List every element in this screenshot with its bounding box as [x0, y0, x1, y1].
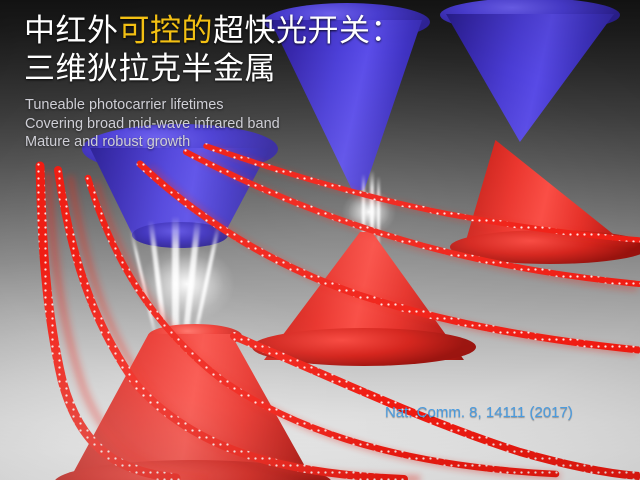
title-line-1-highlight: 可控的: [119, 13, 214, 48]
glow-strand: [377, 176, 380, 250]
title-line-2: 三维狄拉克半金属: [24, 50, 624, 88]
bullet-item: Mature and robust growth: [25, 133, 625, 152]
bullet-list: Tuneable photocarrier lifetimes Covering…: [25, 96, 625, 152]
citation-reference: Nat. Comm. 8, 14111 (2017): [385, 404, 573, 421]
title-line-1: 中红外可控的超快光开关：: [24, 12, 624, 50]
bullet-item: Tuneable photocarrier lifetimes: [25, 96, 625, 115]
title-line-1-pre: 中红外: [24, 13, 119, 48]
title-line-1-post: 超快光开关：: [213, 13, 402, 48]
red-cone-left: [66, 334, 316, 480]
bullet-item: Covering broad mid-wave infrared band: [25, 115, 625, 134]
slide-title: 中红外可控的超快光开关： 三维狄拉克半金属: [24, 12, 624, 88]
red-cone-base-cap-right: [450, 230, 640, 264]
slide-canvas: 中红外可控的超快光开关： 三维狄拉克半金属 Tuneable photocarr…: [0, 0, 640, 480]
dirac-cone-pair-left: [70, 148, 310, 478]
